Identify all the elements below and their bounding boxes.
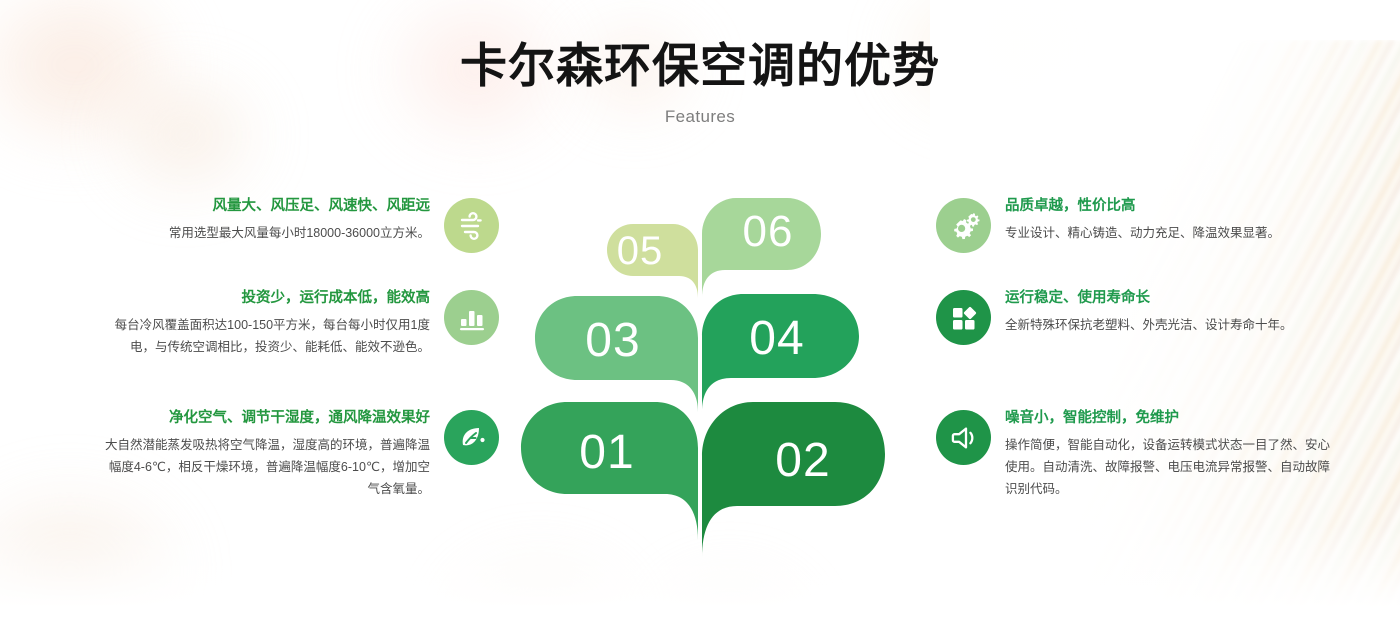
leaf-05-number: 05	[617, 229, 664, 273]
leaf-icon	[444, 410, 499, 465]
bar-chart-icon	[444, 290, 499, 345]
feature-item-wind[interactable]: 风量大、风压足、风速快、风距远 常用选型最大风量每小时18000-36000立方…	[100, 196, 499, 253]
feature-item-cost[interactable]: 投资少，运行成本低，能效高 每台冷风覆盖面积达100-150平方米，每台每小时仅…	[100, 288, 499, 358]
leaf-02-number: 02	[775, 434, 830, 487]
feature-text: 投资少，运行成本低，能效高 每台冷风覆盖面积达100-150平方米，每台每小时仅…	[100, 288, 430, 358]
speaker-icon	[936, 410, 991, 465]
leaf-tree-graphic: 05 06 03 04 01 02	[515, 180, 885, 560]
feature-title: 运行稳定、使用寿命长	[1005, 288, 1335, 310]
feature-description: 大自然潜能蒸发吸热将空气降温，湿度高的环境，普遍降温幅度4-6℃，相反干燥环境，…	[100, 434, 430, 501]
feature-text: 品质卓越，性价比高 专业设计、精心铸造、动力充足、降温效果显著。	[1005, 196, 1335, 244]
page-subtitle: Features	[0, 107, 1400, 127]
gears-icon	[936, 198, 991, 253]
feature-item-quality[interactable]: 品质卓越，性价比高 专业设计、精心铸造、动力充足、降温效果显著。	[936, 196, 1335, 253]
feature-text: 运行稳定、使用寿命长 全新特殊环保抗老塑料、外壳光洁、设计寿命十年。	[1005, 288, 1335, 336]
feature-text: 净化空气、调节干湿度，通风降温效果好 大自然潜能蒸发吸热将空气降温，湿度高的环境…	[100, 408, 430, 501]
leaf-04-group: 04	[702, 294, 859, 412]
feature-description: 专业设计、精心铸造、动力充足、降温效果显著。	[1005, 222, 1335, 244]
leaf-05-group: 05	[607, 224, 698, 298]
leaf-06-group: 06	[702, 198, 821, 298]
leaf-03-group: 03	[535, 296, 698, 412]
feature-item-noise[interactable]: 噪音小，智能控制，免维护 操作简便，智能自动化，设备运转模式状态一目了然、安心使…	[936, 408, 1335, 501]
leaf-04-number: 04	[749, 312, 804, 365]
feature-item-air-quality[interactable]: 净化空气、调节干湿度，通风降温效果好 大自然潜能蒸发吸热将空气降温，湿度高的环境…	[100, 408, 499, 501]
leaf-03-number: 03	[585, 314, 640, 367]
feature-title: 风量大、风压足、风速快、风距远	[100, 196, 430, 218]
modules-icon	[936, 290, 991, 345]
page-title: 卡尔森环保空调的优势	[0, 38, 1400, 93]
feature-description: 全新特殊环保抗老塑料、外壳光洁、设计寿命十年。	[1005, 314, 1335, 336]
feature-title: 投资少，运行成本低，能效高	[100, 288, 430, 310]
feature-item-durability[interactable]: 运行稳定、使用寿命长 全新特殊环保抗老塑料、外壳光洁、设计寿命十年。	[936, 288, 1335, 345]
feature-title: 噪音小，智能控制，免维护	[1005, 408, 1335, 430]
leaf-01-group: 01	[521, 402, 698, 540]
wind-icon	[444, 198, 499, 253]
leaf-06-number: 06	[743, 207, 794, 256]
leaf-02-group: 02	[702, 402, 885, 558]
feature-text: 风量大、风压足、风速快、风距远 常用选型最大风量每小时18000-36000立方…	[100, 196, 430, 244]
feature-description: 每台冷风覆盖面积达100-150平方米，每台每小时仅用1度电，与传统空调相比，投…	[100, 314, 430, 359]
leaf-01-number: 01	[579, 426, 634, 479]
feature-text: 噪音小，智能控制，免维护 操作简便，智能自动化，设备运转模式状态一目了然、安心使…	[1005, 408, 1335, 501]
feature-title: 净化空气、调节干湿度，通风降温效果好	[100, 408, 430, 430]
feature-title: 品质卓越，性价比高	[1005, 196, 1335, 218]
header: 卡尔森环保空调的优势 Features	[0, 38, 1400, 127]
feature-description: 操作简便，智能自动化，设备运转模式状态一目了然、安心使用。自动清洗、故障报警、电…	[1005, 434, 1335, 501]
feature-description: 常用选型最大风量每小时18000-36000立方米。	[100, 222, 430, 244]
